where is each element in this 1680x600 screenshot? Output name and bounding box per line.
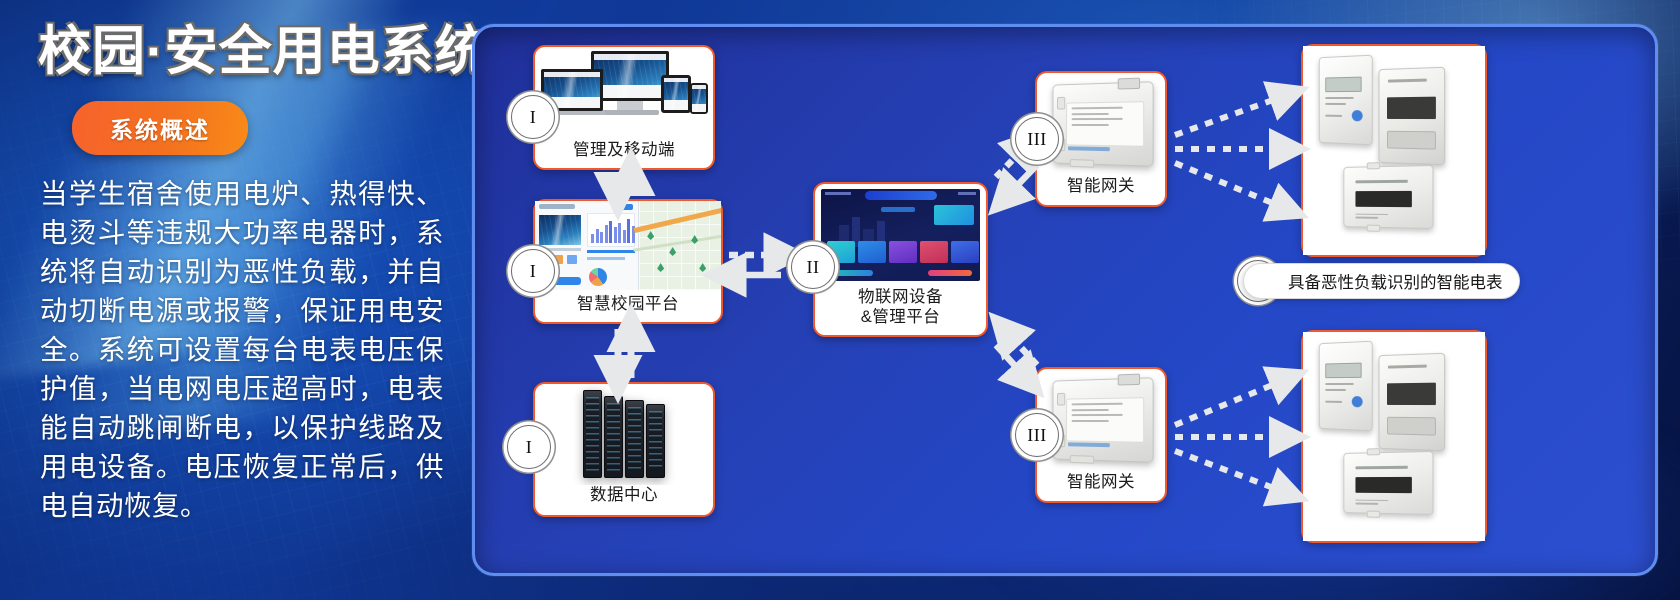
- step-badge-5: III: [1015, 117, 1059, 161]
- step-badge-2: I: [511, 249, 555, 293]
- step-badge-1: I: [511, 95, 555, 139]
- status-badge-overview: 系统概述: [72, 101, 248, 155]
- step-badge-4: II: [791, 245, 835, 289]
- step-badge-3: I: [507, 425, 551, 469]
- system-description-text: 当学生宿舍使用电炉、热得快、电烫斗等违规大功率电器时，系统将自动识别为恶性负载，…: [40, 175, 444, 526]
- diagram-connectors: [475, 27, 1658, 576]
- page-title: 校园·安全用电系统: [30, 22, 460, 83]
- intro-column: 校园·安全用电系统 系统概述 当学生宿舍使用电炉、热得快、电烫斗等违规大功率电器…: [30, 8, 460, 592]
- step-badge-6: III: [1015, 413, 1059, 457]
- architecture-diagram-panel: 管理及移动端 I: [472, 24, 1658, 576]
- smart-meter-caption: 具备恶性负载识别的智能电表: [1243, 263, 1520, 299]
